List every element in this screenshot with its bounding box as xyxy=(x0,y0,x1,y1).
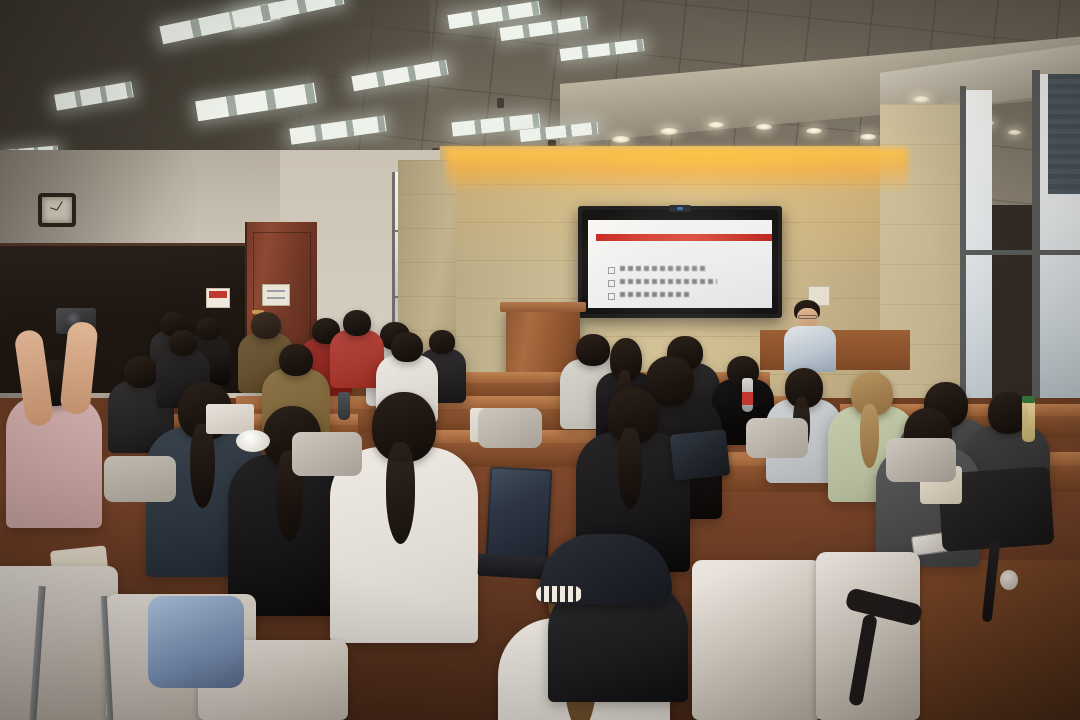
bottle-cap xyxy=(1022,396,1035,403)
denim-jacket xyxy=(148,596,244,688)
tablet[interactable] xyxy=(670,429,731,481)
window-frame xyxy=(960,86,966,426)
downlight-icon xyxy=(860,134,876,140)
wall-clock-icon xyxy=(38,193,76,227)
presenter xyxy=(782,300,838,372)
window-blind[interactable] xyxy=(1048,74,1080,194)
chair[interactable] xyxy=(478,408,542,448)
slide-bullet xyxy=(620,279,717,284)
slide-bullet-list xyxy=(620,266,758,305)
slide-accent-bar xyxy=(596,234,772,241)
downlight-icon xyxy=(708,122,724,128)
audience-head xyxy=(343,310,371,336)
chair[interactable] xyxy=(886,438,956,482)
room-sign xyxy=(262,284,290,306)
beverage-bottle[interactable] xyxy=(1022,398,1035,442)
tumbler[interactable] xyxy=(338,392,350,420)
white-scrunchie xyxy=(236,430,270,452)
slide-bullet xyxy=(620,292,692,297)
glasses-icon xyxy=(798,315,817,319)
lectern-top xyxy=(500,302,586,312)
presenter-shirt xyxy=(784,326,836,372)
audience-head xyxy=(169,330,197,356)
laptop-white[interactable] xyxy=(206,404,254,434)
window-transom xyxy=(966,250,1080,255)
downlight-icon xyxy=(612,136,630,143)
downlight-icon xyxy=(912,96,930,103)
right-window-inner xyxy=(966,90,992,420)
slide-bullet xyxy=(620,266,706,271)
beaded-hair-tie xyxy=(536,586,582,602)
downlight-icon xyxy=(806,128,822,134)
bag-charm xyxy=(1000,570,1018,590)
chair[interactable] xyxy=(0,566,118,720)
ceiling-mount-icon xyxy=(497,98,504,108)
ponytail xyxy=(618,428,642,509)
downlight-icon xyxy=(660,128,678,135)
downlight-icon xyxy=(1008,130,1021,135)
audience-torso xyxy=(6,396,102,528)
audience-head xyxy=(279,344,313,376)
cove-light-hotspot xyxy=(560,150,860,176)
slide-content xyxy=(588,220,772,308)
lecture-room-photo xyxy=(0,0,1080,720)
chair[interactable] xyxy=(692,560,822,720)
audience-head xyxy=(391,332,423,362)
audience-head xyxy=(251,312,281,339)
wall-notice xyxy=(206,288,230,308)
laptop-screen xyxy=(488,469,551,560)
laptop[interactable] xyxy=(486,466,553,561)
ponytail xyxy=(190,424,215,508)
chair[interactable] xyxy=(104,456,176,502)
webcam-icon xyxy=(669,205,691,212)
downlight-icon xyxy=(756,124,772,130)
chair[interactable] xyxy=(292,432,362,476)
presentation-display[interactable] xyxy=(578,206,782,318)
ponytail xyxy=(386,442,415,544)
bottle-label xyxy=(742,392,753,405)
chair[interactable] xyxy=(746,418,808,458)
